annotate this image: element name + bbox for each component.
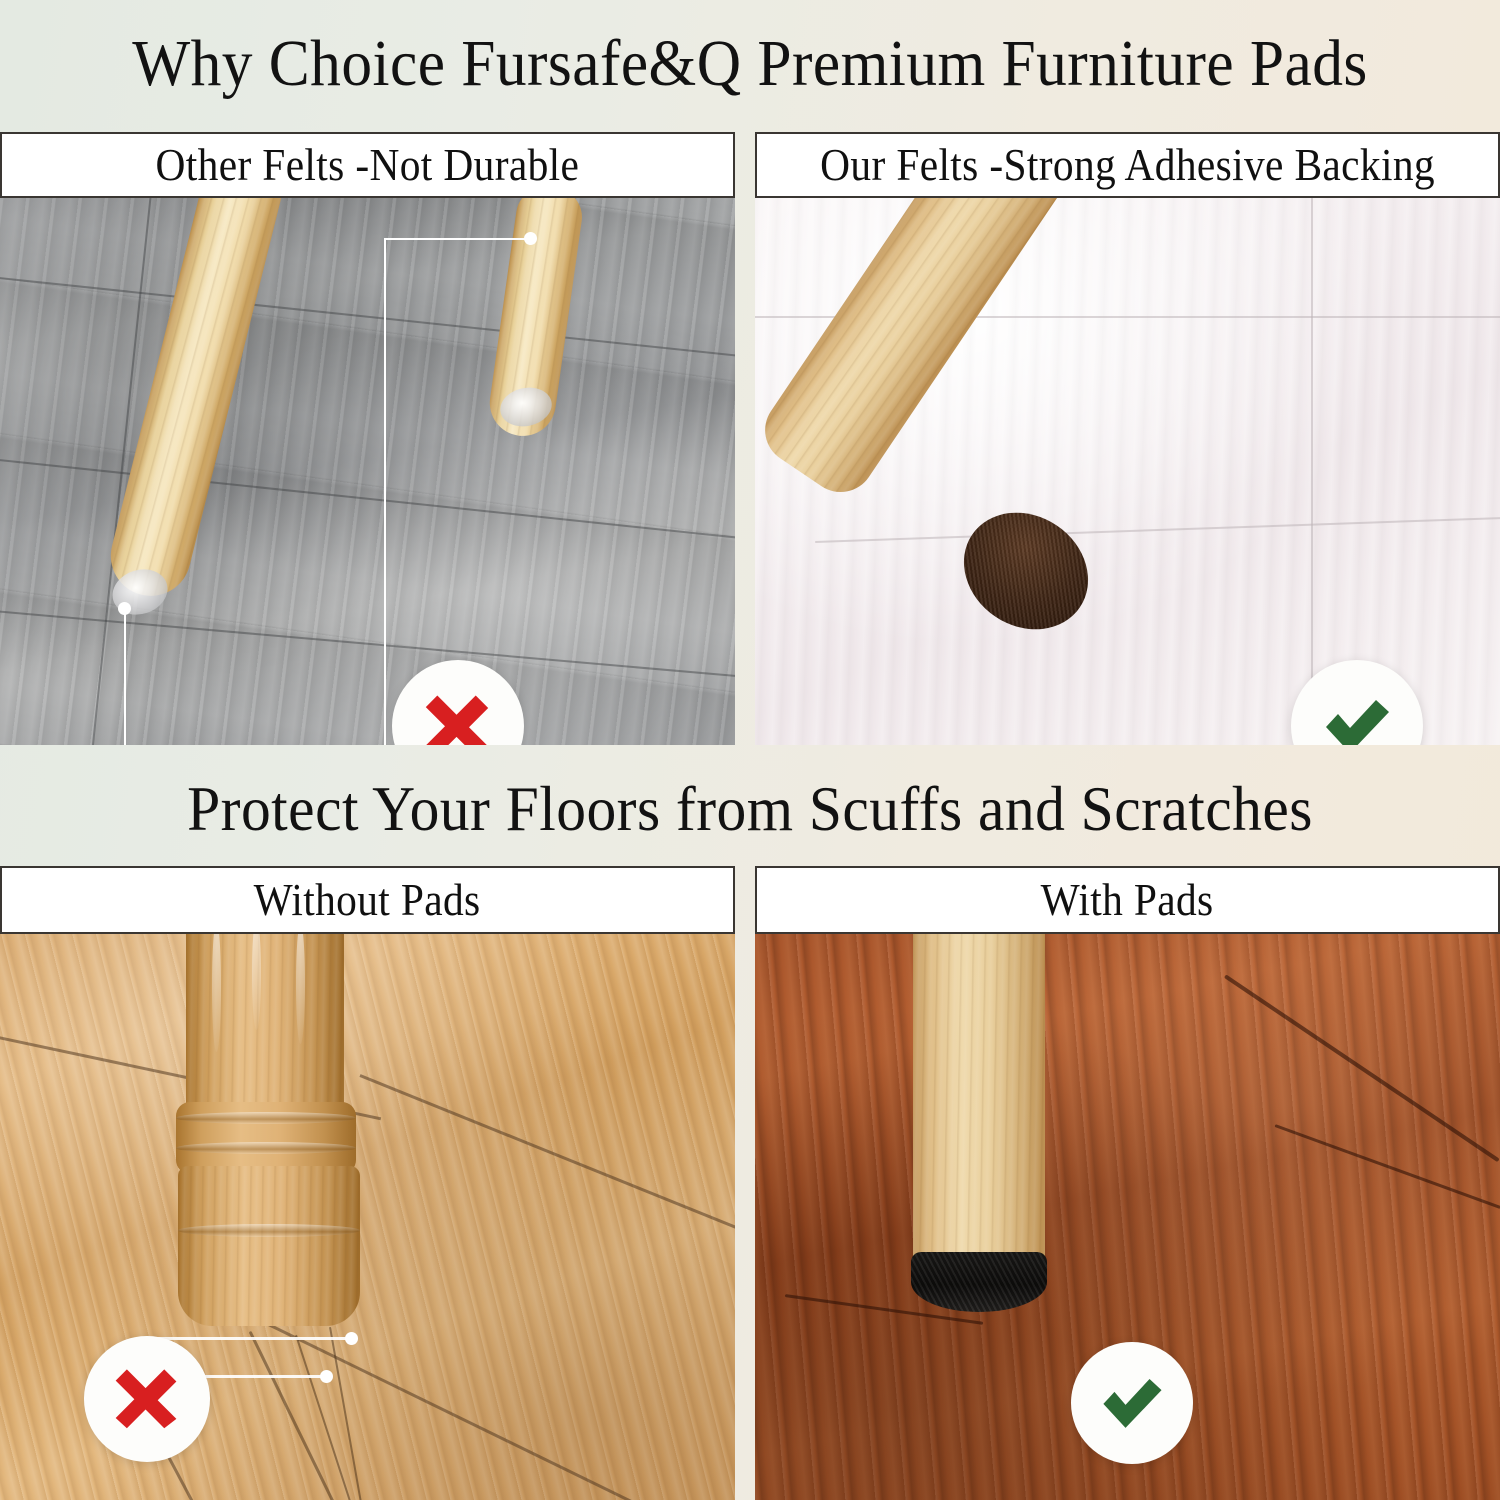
cross-icon — [421, 689, 495, 745]
panel-bottom-left: Without Pads — [0, 866, 735, 1500]
panel-bottom-right: With Pads — [755, 866, 1500, 1500]
panel-label-top-right: Our Felts -Strong Adhesive Backing — [755, 132, 1500, 198]
status-badge-cross — [84, 1336, 210, 1462]
panel-top-left: Other Felts -Not Durable — [0, 132, 735, 745]
callout-dot — [118, 602, 131, 615]
page-title: Why Choice Fursafe&Q Premium Furniture P… — [53, 22, 1448, 106]
tile-seam — [1311, 198, 1313, 745]
panel-label-bottom-right: With Pads — [755, 866, 1500, 934]
callout-edge — [384, 238, 532, 240]
photo-other-felts — [0, 198, 735, 745]
leader-line — [152, 1337, 352, 1340]
callout-dot — [524, 232, 537, 245]
turn-ring — [176, 1112, 356, 1124]
wood-grain — [913, 934, 1045, 1284]
check-icon — [1096, 1367, 1168, 1439]
table-leg-upper — [186, 934, 344, 1118]
table-leg-collar — [176, 1102, 356, 1174]
table-leg-foot — [178, 1166, 360, 1326]
panel-label-text: With Pads — [1041, 874, 1214, 926]
callout-dot — [345, 1332, 358, 1345]
furniture-leg — [913, 934, 1045, 1284]
callout-edge — [384, 238, 386, 745]
callout-edge — [124, 608, 126, 745]
panel-label-text: Our Felts -Strong Adhesive Backing — [820, 139, 1435, 191]
section-title: Protect Your Floors from Scuffs and Scra… — [53, 768, 1448, 850]
black-felt-pad — [911, 1252, 1047, 1312]
panel-label-bottom-left: Without Pads — [0, 866, 735, 934]
infographic-page: Why Choice Fursafe&Q Premium Furniture P… — [0, 0, 1500, 1500]
status-badge-check — [1071, 1342, 1193, 1464]
panel-label-top-left: Other Felts -Not Durable — [0, 132, 735, 198]
panel-label-text: Other Felts -Not Durable — [156, 139, 580, 191]
cross-icon — [111, 1363, 183, 1435]
check-icon — [1318, 687, 1396, 745]
wood-grain — [186, 934, 344, 1118]
panel-label-text: Without Pads — [254, 874, 481, 926]
callout-dot — [320, 1370, 333, 1383]
wood-grain — [178, 1166, 360, 1326]
turn-ring — [176, 1142, 356, 1154]
photo-with-pads — [755, 934, 1500, 1500]
turn-ring — [178, 1224, 360, 1237]
photo-without-pads — [0, 934, 735, 1500]
panel-top-right: Our Felts -Strong Adhesive Backing — [755, 132, 1500, 745]
photo-our-felts — [755, 198, 1500, 745]
